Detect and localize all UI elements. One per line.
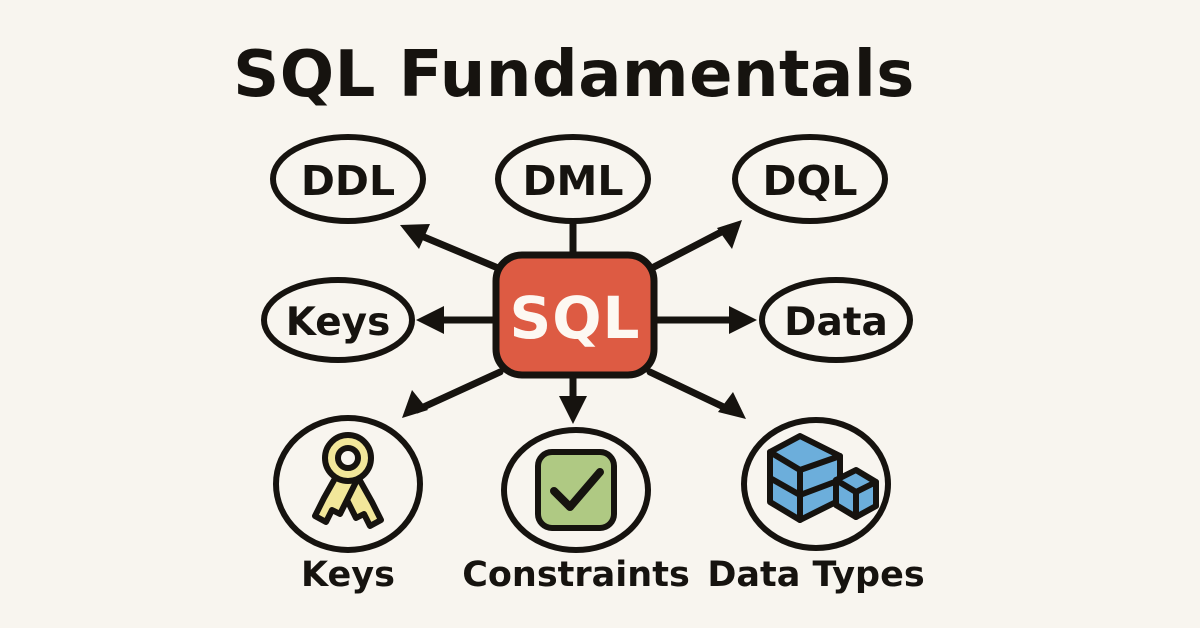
data-types-caption: Data Types <box>707 555 924 595</box>
check-square-icon <box>538 452 614 528</box>
node-data[interactable]: Data <box>762 280 910 360</box>
constraints-caption: Constraints <box>462 555 690 595</box>
center-node-sql[interactable]: SQL <box>496 255 654 375</box>
page-title: SQL Fundamentals <box>233 38 915 112</box>
sql-fundamentals-diagram: SQL Fundamentals <box>0 0 1200 628</box>
node-keys-top[interactable]: Keys <box>264 280 412 360</box>
sql-label: SQL <box>509 284 640 352</box>
dml-label: DML <box>523 157 624 205</box>
diagram-canvas: SQL Fundamentals <box>0 0 1200 628</box>
node-dml[interactable]: DML <box>498 137 648 221</box>
keys-top-label: Keys <box>286 300 391 345</box>
dql-label: DQL <box>762 157 857 205</box>
node-dql[interactable]: DQL <box>735 137 885 221</box>
ddl-label: DDL <box>301 157 395 205</box>
node-ddl[interactable]: DDL <box>273 137 423 221</box>
data-label: Data <box>784 300 888 345</box>
keys-icon-caption: Keys <box>301 555 395 595</box>
